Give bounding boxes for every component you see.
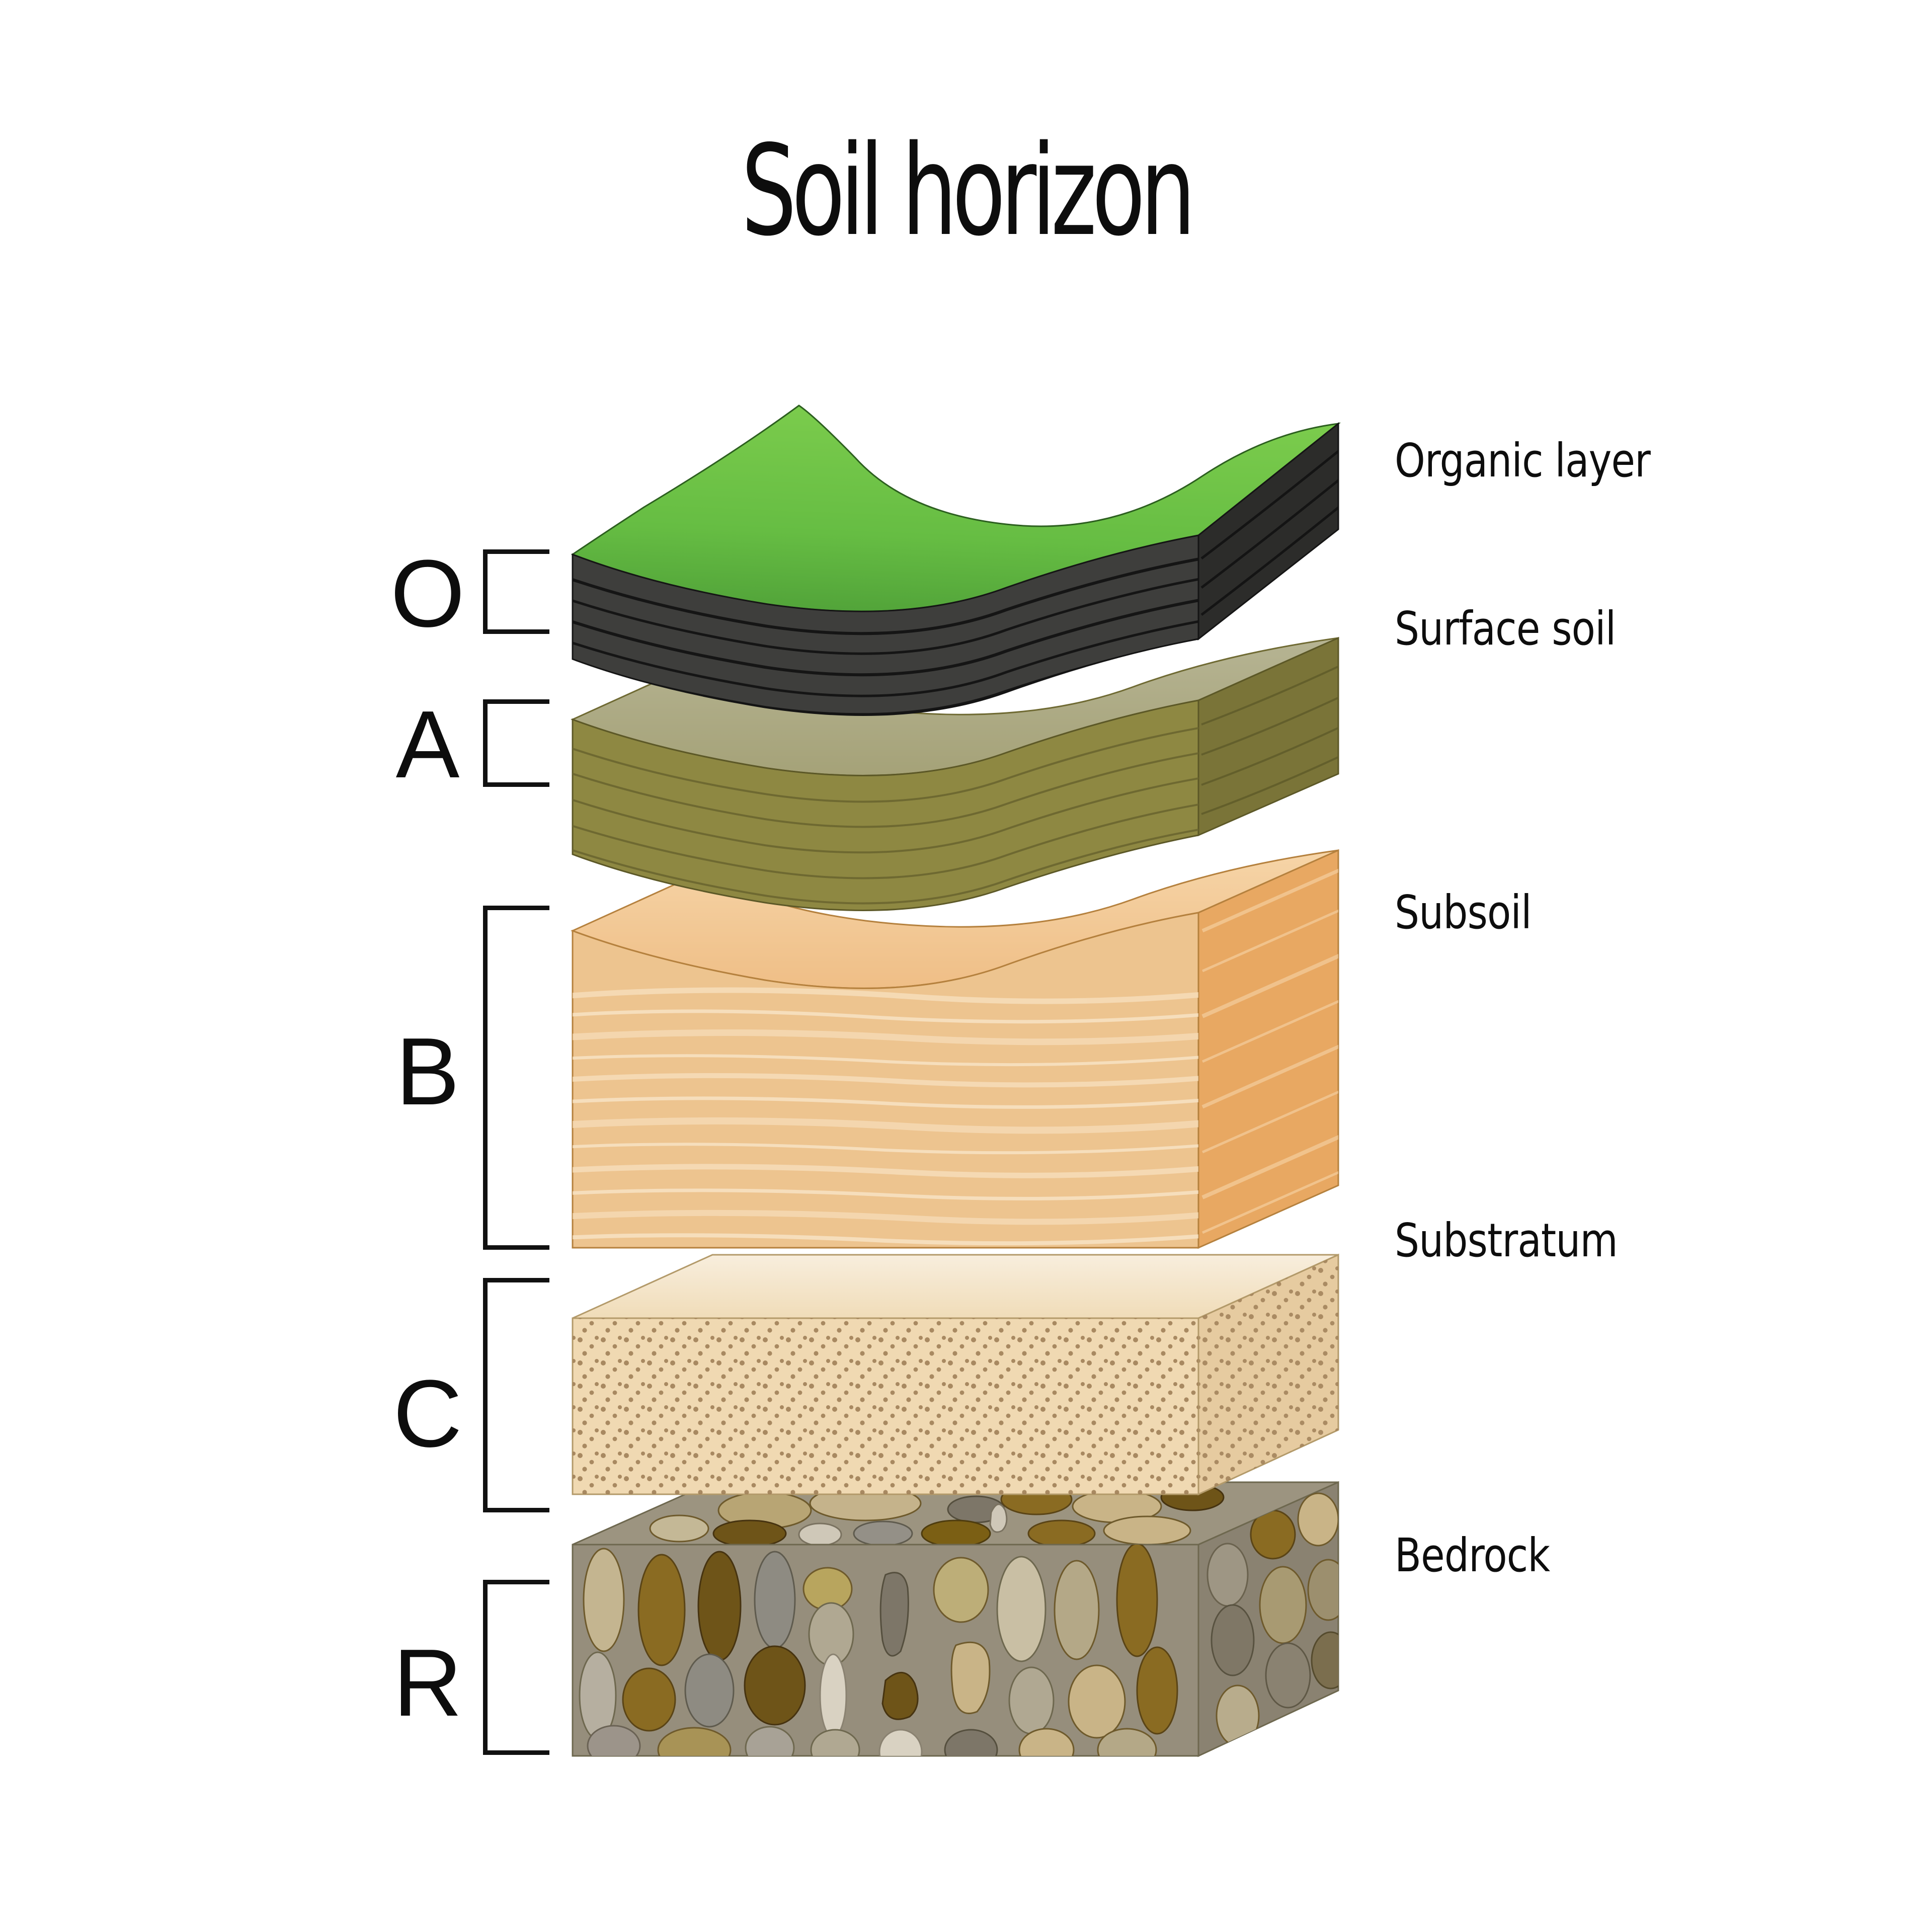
horizon-letter-r: R: [367, 1635, 488, 1731]
bracket-c: [483, 1278, 549, 1512]
bracket-a: [483, 699, 549, 787]
bracket-b: [483, 906, 549, 1250]
horizon-letter-c: C: [367, 1366, 488, 1462]
bracket-r: [483, 1580, 549, 1755]
organic-layer-graphic: [553, 387, 1369, 709]
label-organic-layer: Organic layer: [1395, 434, 1650, 488]
horizon-letter-b: B: [367, 1024, 488, 1119]
label-substratum: Substratum: [1395, 1214, 1618, 1267]
page-title: Soil horizon: [290, 126, 1642, 257]
subsoil-layer-graphic: [553, 845, 1369, 1323]
label-bedrock: Bedrock: [1395, 1528, 1550, 1582]
label-subsoil: Subsoil: [1395, 886, 1532, 939]
horizon-letter-a: A: [367, 697, 488, 792]
soil-horizon-diagram: Soil horizon: [0, 0, 1932, 1932]
bracket-o: [483, 549, 549, 634]
horizon-letter-o: O: [367, 546, 488, 641]
label-surface-soil: Surface soil: [1395, 602, 1616, 656]
